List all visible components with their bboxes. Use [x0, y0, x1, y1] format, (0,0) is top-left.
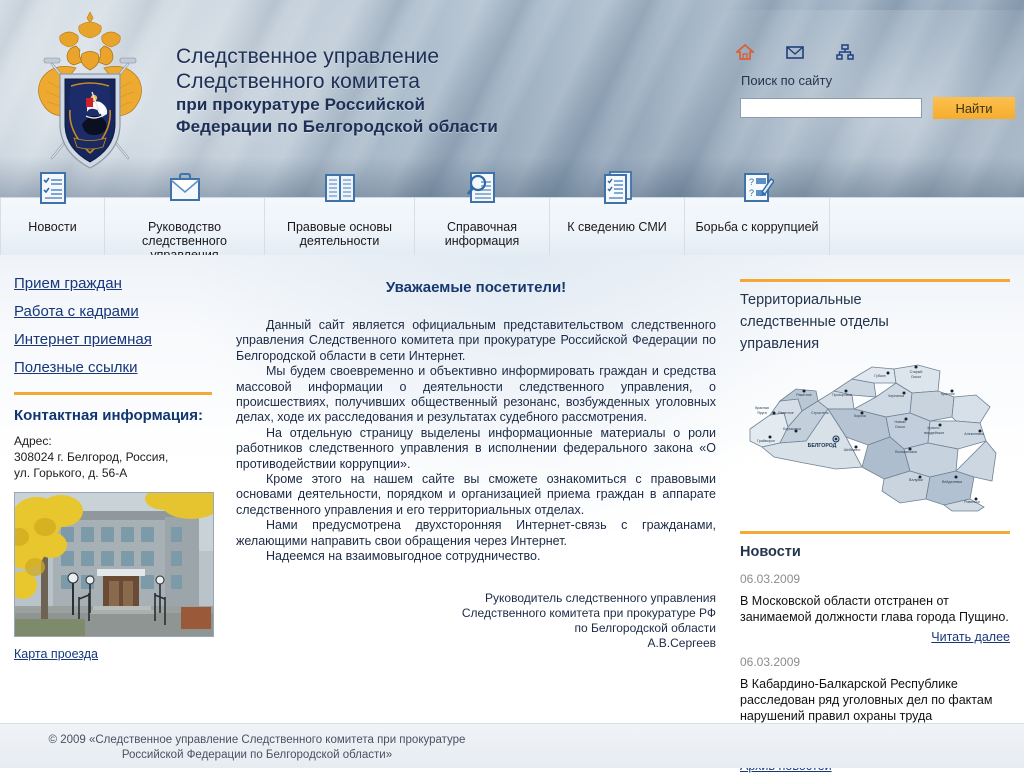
sidebar-divider	[14, 392, 212, 395]
nav-item-rukovodstvo[interactable]: Руководство следственного управления	[105, 198, 265, 255]
news-divider	[740, 531, 1010, 534]
site-header: Следственное управление Следственного ко…	[0, 0, 1024, 197]
headquarters-building-photo	[14, 492, 214, 637]
left-sidebar: Прием граждан Работа с кадрами Интернет …	[14, 275, 220, 663]
page-body: Прием граждан Работа с кадрами Интернет …	[0, 255, 1024, 723]
header-icon-bar	[736, 44, 854, 60]
news-read-more-link[interactable]: Читать далее	[740, 630, 1010, 644]
intro-paragraph-3: На отдельную страницу выделены информаци…	[236, 426, 716, 472]
main-navigation: Новости Руководство следственного управл…	[0, 197, 1024, 255]
svg-text:Прохоровка: Прохоровка	[832, 393, 852, 397]
nav-item-spravochnaya[interactable]: Справочная информация	[415, 198, 550, 255]
intro-paragraph-5: Нами предусмотрена двухсторонняя Интерне…	[236, 518, 716, 549]
route-map-link[interactable]: Карта проезда	[14, 647, 98, 661]
svg-text:Алексеевка: Алексеевка	[964, 432, 983, 436]
signature-line-1: Руководитель следственного управления	[236, 591, 716, 606]
signature-block: Руководитель следственного управления Сл…	[236, 591, 716, 651]
news-text: В Московской области отстранен от занима…	[740, 593, 1010, 625]
nav-label: Новости	[1, 220, 104, 234]
signature-line-3: по Белгородской области	[236, 621, 716, 636]
territorial-title-line-1: Территориальные	[740, 291, 1010, 309]
news-date: 06.03.2009	[740, 572, 1010, 586]
svg-text:Старый: Старый	[910, 370, 923, 374]
svg-text:Вейделевка: Вейделевка	[942, 480, 962, 484]
intro-paragraph-1: Данный сайт является официальным предста…	[236, 318, 716, 364]
svg-text:БЕЛГОРОД: БЕЛГОРОД	[808, 443, 837, 449]
intro-paragraph-6: Надеемся на взаимовыгодное сотрудничеств…	[236, 549, 716, 564]
left-sidebar-links: Прием граждан Работа с кадрами Интернет …	[14, 275, 220, 376]
svg-text:Красная: Красная	[755, 406, 769, 410]
sitemap-icon[interactable]	[836, 44, 854, 60]
copyright-line-2: Российской Федерации по Белгородской обл…	[22, 748, 492, 763]
territorial-divider	[740, 279, 1010, 282]
news-date: 06.03.2009	[740, 655, 1010, 669]
briefcase-icon	[168, 170, 202, 208]
svg-text:Шебекино: Шебекино	[844, 448, 861, 452]
checklist-document-icon	[36, 170, 70, 208]
svg-text:Новый: Новый	[894, 420, 905, 424]
contact-info-title: Контактная информация:	[14, 407, 220, 424]
nav-label: К сведению СМИ	[550, 220, 684, 234]
investigative-committee-emblem	[24, 6, 156, 172]
sidebar-link-poleznye-ssylki[interactable]: Полезные ссылки	[14, 359, 220, 376]
right-sidebar: Территориальные следственные отделы упра…	[740, 279, 1010, 775]
svg-text:Строитель: Строитель	[811, 411, 829, 415]
greeting-heading: Уважаемые посетители!	[236, 279, 716, 296]
sidebar-link-internet-priemnaya[interactable]: Интернет приемная	[14, 331, 220, 348]
news-item: 06.03.2009 В Московской области отстране…	[740, 572, 1010, 644]
questionnaire-pencil-icon: ??	[740, 170, 774, 208]
svg-text:Волоконовка: Волоконовка	[895, 450, 917, 454]
svg-text:?: ?	[749, 188, 754, 198]
nav-item-novosti[interactable]: Новости	[0, 198, 105, 255]
territorial-title-line-2: следственные отделы	[740, 313, 1010, 331]
address-line-2: ул. Горького, д. 56-А	[14, 465, 220, 481]
belgorod-oblast-districts-map[interactable]: Губкин СтарыйОскол Ракитное Прохоровка Ч…	[740, 357, 1010, 513]
nav-label: Правовые основы деятельности	[265, 220, 414, 248]
news-title: Новости	[740, 543, 1010, 561]
svg-text:гвардейское: гвардейское	[924, 431, 945, 435]
search-button[interactable]: Найти	[933, 97, 1015, 119]
territorial-title-line-3: управления	[740, 335, 1010, 353]
nav-label: Борьба с коррупцией	[685, 220, 829, 234]
svg-text:?: ?	[749, 177, 754, 187]
svg-text:Чернянка: Чернянка	[888, 394, 904, 398]
svg-text:Оскол: Оскол	[911, 375, 921, 379]
intro-paragraph-4: Кроме этого на нашем сайте вы сможете оз…	[236, 472, 716, 518]
svg-text:Борисовка: Борисовка	[783, 427, 801, 431]
title-line-4: Федерации по Белгородской области	[176, 116, 716, 138]
svg-text:Ракитное: Ракитное	[778, 411, 793, 415]
page-title: Следственное управление Следственного ко…	[176, 44, 716, 138]
title-line-2: Следственного комитета	[176, 69, 716, 94]
signature-name: А.В.Сергеев	[236, 636, 716, 651]
svg-text:Грайворон: Грайворон	[757, 439, 775, 443]
nav-item-korrupciya[interactable]: ?? Борьба с коррупцией	[685, 198, 830, 255]
svg-text:Ракитное: Ракитное	[796, 393, 811, 397]
svg-text:Губкин: Губкин	[874, 374, 885, 378]
title-line-1: Следственное управление	[176, 44, 716, 69]
search-label: Поиск по сайту	[741, 73, 832, 88]
svg-text:Яруга: Яруга	[757, 411, 767, 415]
stacked-documents-icon	[600, 170, 634, 208]
nav-item-pravovye-osnovy[interactable]: Правовые основы деятельности	[265, 198, 415, 255]
nav-label: Справочная информация	[415, 220, 549, 248]
copyright-line-1: © 2009 «Следственное управление Следстве…	[22, 733, 492, 748]
home-icon[interactable]	[736, 44, 754, 60]
address-line-1: 308024 г. Белгород, Россия,	[14, 449, 220, 465]
svg-text:Ровеньки: Ровеньки	[964, 500, 980, 504]
svg-text:Красно-: Красно-	[927, 426, 941, 430]
magnifier-document-icon	[465, 170, 499, 208]
svg-text:Красное: Красное	[941, 392, 955, 396]
svg-text:Оскол: Оскол	[895, 425, 905, 429]
contact-info-body: Адрес: 308024 г. Белгород, Россия, ул. Г…	[14, 433, 220, 481]
svg-text:Короча: Короча	[854, 414, 866, 418]
address-label: Адрес:	[14, 433, 220, 449]
svg-text:Валуйки: Валуйки	[909, 478, 923, 482]
copyright-text: © 2009 «Следственное управление Следстве…	[22, 733, 492, 763]
main-content: Уважаемые посетители! Данный сайт являет…	[236, 279, 716, 651]
signature-line-2: Следственного комитета при прокуратуре Р…	[236, 606, 716, 621]
news-text: В Кабардино-Балкарской Республике рассле…	[740, 676, 1010, 724]
intro-paragraph-2: Мы будем своевременно и объективно инфор…	[236, 364, 716, 426]
sidebar-link-rabota-s-kadrami[interactable]: Работа с кадрами	[14, 303, 220, 320]
open-book-icon	[323, 170, 357, 208]
site-footer: © 2009 «Следственное управление Следстве…	[0, 723, 1024, 768]
mail-icon[interactable]	[786, 44, 804, 60]
search-input[interactable]	[740, 98, 922, 118]
sidebar-link-priem-grazhdan[interactable]: Прием граждан	[14, 275, 220, 292]
title-line-3: при прокуратуре Российской	[176, 94, 716, 116]
nav-item-smi[interactable]: К сведению СМИ	[550, 198, 685, 255]
